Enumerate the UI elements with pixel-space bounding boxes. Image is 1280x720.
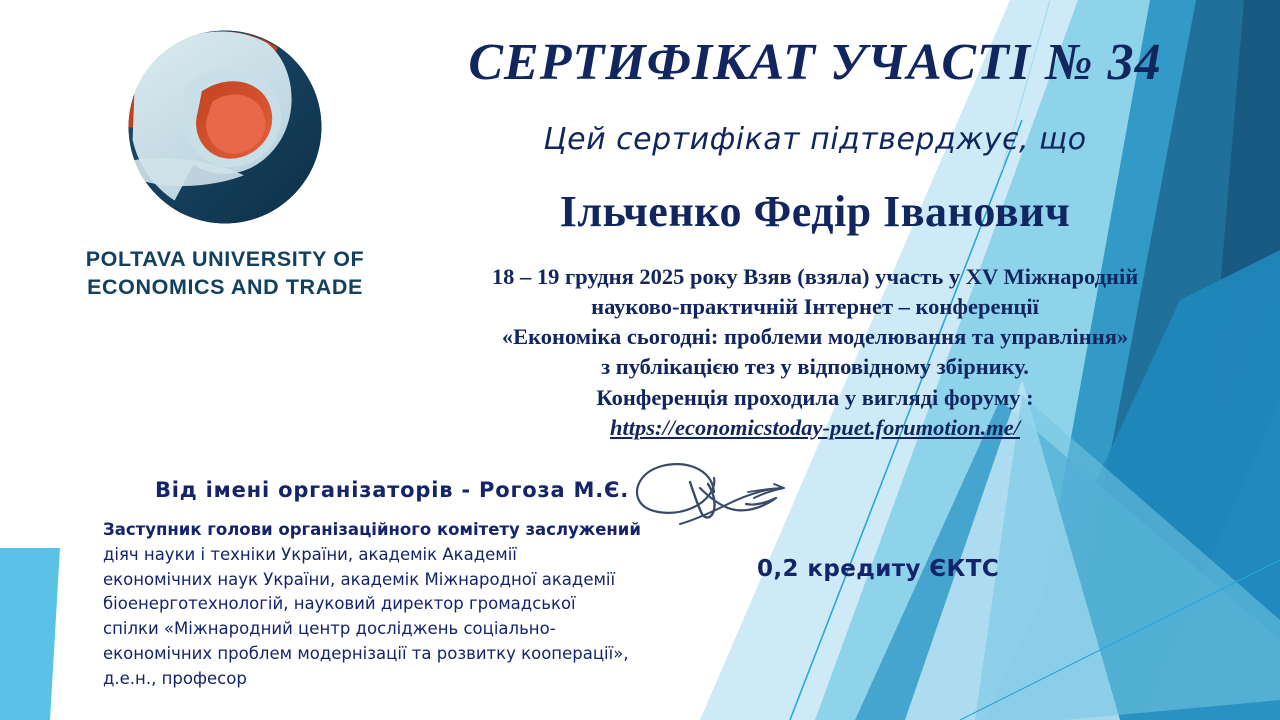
body-line-1: 18 – 19 грудня 2025 року Взяв (взяла) уч… xyxy=(420,262,1210,292)
logo-wordmark-line1: POLTAVA UNIVERSITY OF xyxy=(86,247,365,271)
credential-line: економічних наук України, академік Міжна… xyxy=(103,568,743,593)
credential-line: біоенерготехнологій, науковий директор г… xyxy=(103,592,743,617)
university-logo-block: POLTAVA UNIVERSITY OF ECONOMICS AND TRAD… xyxy=(60,22,390,301)
hairline-2 xyxy=(960,560,1280,720)
organizer-signature-label: Від імені організаторів - Рогоза М.Є. xyxy=(155,478,629,502)
logo-wordmark-line2: ECONOMICS AND TRADE xyxy=(87,275,363,299)
credential-line: економічних проблем модернізації та розв… xyxy=(103,642,743,667)
credential-line: д.е.н., професор xyxy=(103,667,743,692)
credential-line: спілки «Міжнародний центр досліджень соц… xyxy=(103,617,743,642)
ribbon-wedge-pale-3 xyxy=(975,395,1280,720)
credential-line: Заступник голови організаційного комітет… xyxy=(103,518,743,543)
conference-forum-link[interactable]: https://economicstoday-puet.forumotion.m… xyxy=(420,413,1210,443)
logo-wordmark: POLTAVA UNIVERSITY OF ECONOMICS AND TRAD… xyxy=(60,246,390,301)
recipient-name: Ільченко Федір Іванович xyxy=(420,186,1210,237)
body-line-5: Конференція проходила у вигляді форуму : xyxy=(420,383,1210,413)
ribbon-wedge-dark-1 xyxy=(1205,0,1280,470)
certificate-subtitle: Цей сертифікат підтверджує, що xyxy=(420,122,1210,157)
certificate-body-text: 18 – 19 грудня 2025 року Взяв (взяла) уч… xyxy=(420,262,1210,443)
certificate-title: СЕРТИФІКАТ УЧАСТІ № 34 xyxy=(420,36,1210,89)
poltava-university-sphere-p-logo-icon xyxy=(120,22,330,232)
ribbon-wedge-left-bottom-2 xyxy=(0,548,60,720)
ects-credit-value: 0,2 кредиту ЄКТС xyxy=(757,556,999,582)
certificate-page: POLTAVA UNIVERSITY OF ECONOMICS AND TRAD… xyxy=(0,0,1280,720)
body-line-3: «Економіка сьогодні: проблеми моделюванн… xyxy=(420,322,1210,352)
credential-line: діяч науки і техніки України, академік А… xyxy=(103,543,743,568)
body-line-2: науково-практичній Інтернет – конференці… xyxy=(420,292,1210,322)
ribbon-wedge-left-bottom xyxy=(0,548,58,720)
organizer-credentials: Заступник голови організаційного комітет… xyxy=(103,518,743,691)
body-line-4: з публікацією тез у відповідному збірник… xyxy=(420,352,1210,382)
